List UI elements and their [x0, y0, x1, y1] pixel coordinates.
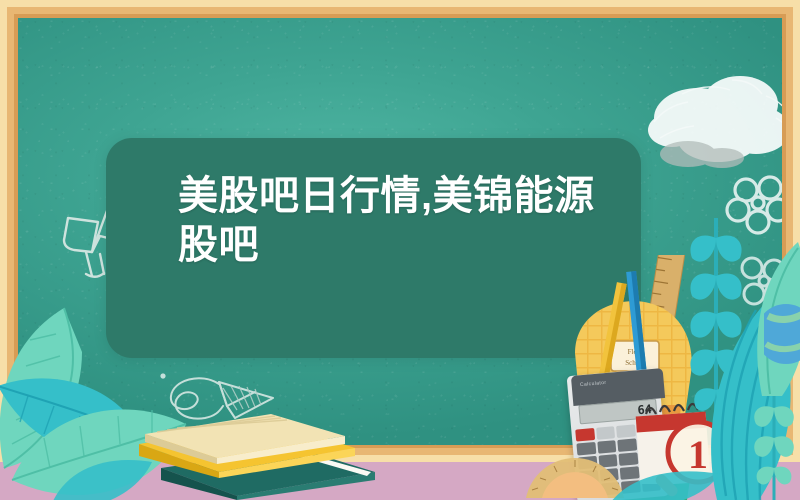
- stacked-books: [125, 398, 385, 500]
- calculator-key: [596, 426, 615, 440]
- leaf-icon: [744, 394, 800, 500]
- banner-image: 美股吧日行情,美锦能源股吧: [0, 0, 800, 500]
- page-title: 美股吧日行情,美锦能源股吧: [178, 172, 608, 270]
- cloud-icon: [636, 60, 782, 180]
- globe-icon: [764, 300, 800, 370]
- leaf-icon: [604, 466, 724, 500]
